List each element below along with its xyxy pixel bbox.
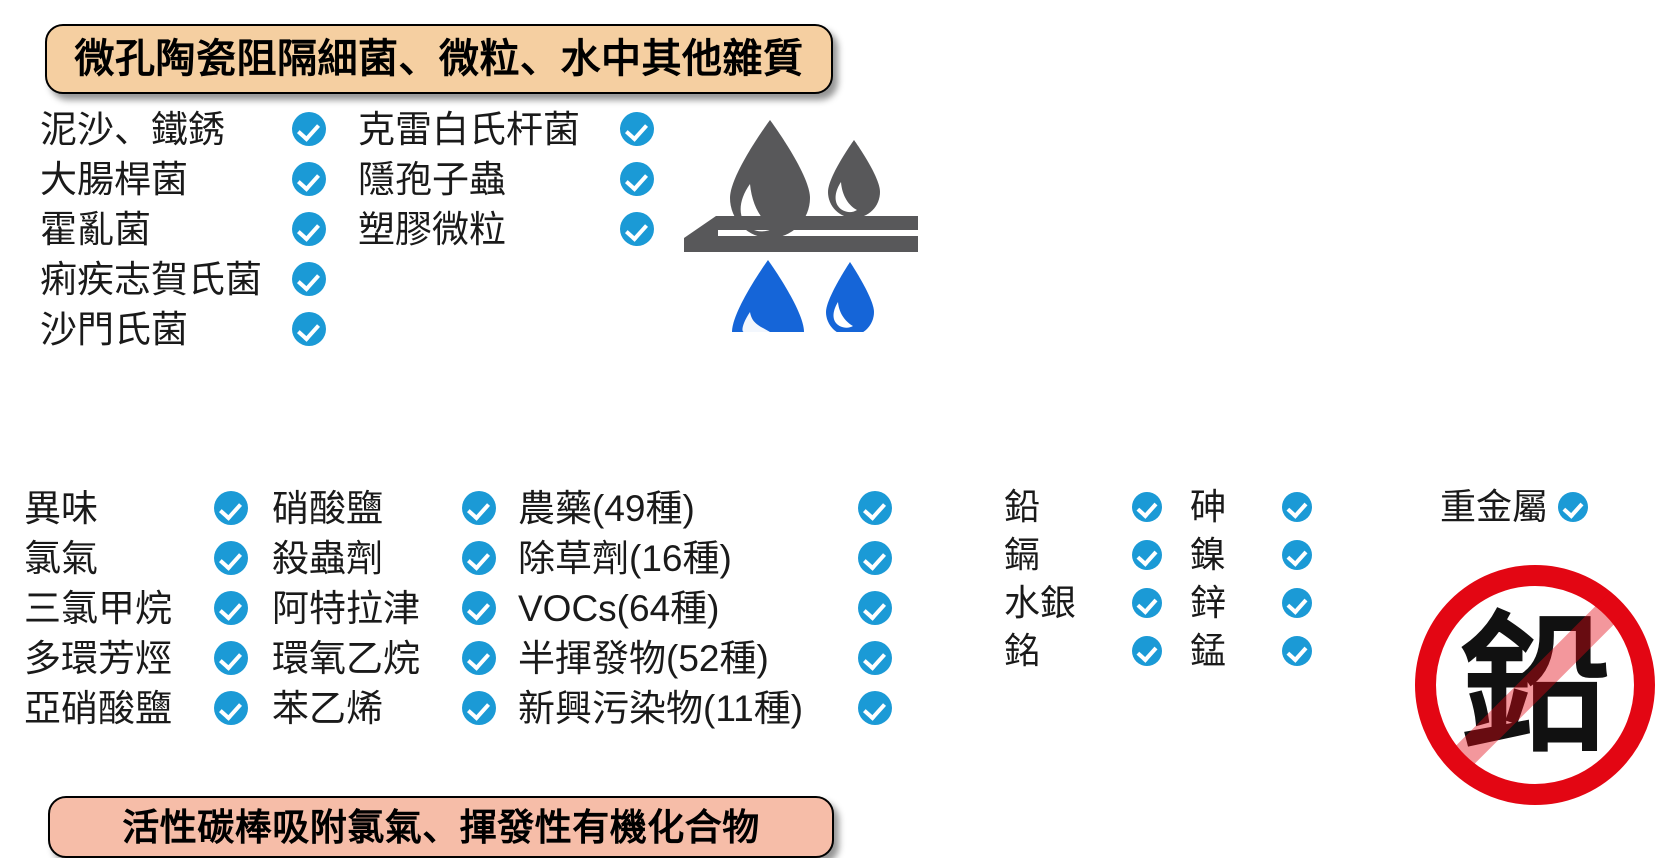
check-icon bbox=[1132, 540, 1162, 570]
list-item-label: 水銀 bbox=[1004, 585, 1132, 621]
list-item: 隱孢子蟲 bbox=[358, 154, 654, 204]
check-icon bbox=[620, 212, 654, 246]
list-item: 錳 bbox=[1190, 627, 1312, 675]
list-item-label: 硝酸鹽 bbox=[272, 490, 462, 527]
list-item-label: 砷 bbox=[1190, 489, 1282, 525]
check-icon bbox=[1282, 492, 1312, 522]
check-icon bbox=[462, 591, 496, 625]
check-icon bbox=[1132, 492, 1162, 522]
check-icon bbox=[858, 691, 892, 725]
list-item: 鎳 bbox=[1190, 531, 1312, 579]
list-item-label: 鉛 bbox=[1004, 489, 1132, 525]
list-item: 銘 bbox=[1004, 627, 1162, 675]
list-item: 殺蟲劑 bbox=[272, 533, 496, 583]
check-icon bbox=[1282, 588, 1312, 618]
list-item: 鋅 bbox=[1190, 579, 1312, 627]
water-filter-icon bbox=[678, 112, 918, 332]
list-item: 水銀 bbox=[1004, 579, 1162, 627]
check-icon bbox=[292, 112, 326, 146]
check-icon bbox=[1558, 492, 1588, 522]
check-icon bbox=[292, 212, 326, 246]
list-item: 泥沙、鐵銹 bbox=[40, 104, 326, 154]
list-item: 塑膠微粒 bbox=[358, 204, 654, 254]
ion-column-1: 鉛 鎘 水銀 銘 bbox=[1004, 483, 1162, 675]
check-icon bbox=[462, 491, 496, 525]
panel-antibacterial: 抗菌配方防止微生物增長 bbox=[960, 0, 1679, 390]
check-icon bbox=[1132, 636, 1162, 666]
check-icon bbox=[462, 691, 496, 725]
check-icon bbox=[1282, 636, 1312, 666]
check-icon bbox=[858, 541, 892, 575]
list-item-label: 鎘 bbox=[1004, 537, 1132, 573]
list-item: 農藥(49種) bbox=[518, 483, 892, 533]
list-item-label: 錳 bbox=[1190, 633, 1282, 669]
list-item: VOCs(64種) bbox=[518, 583, 892, 633]
check-icon bbox=[292, 162, 326, 196]
no-lead-prohibition-icon: 鉛 bbox=[1415, 565, 1655, 805]
check-icon bbox=[214, 691, 248, 725]
list-item-label: 大腸桿菌 bbox=[40, 161, 292, 198]
carbon-column-3: 農藥(49種) 除草劑(16種) VOCs(64種) 半揮發物(52種) 新興污… bbox=[518, 483, 892, 733]
check-icon bbox=[620, 162, 654, 196]
list-item-label: 銘 bbox=[1004, 633, 1132, 669]
list-item-label: 農藥(49種) bbox=[518, 490, 858, 527]
list-item: 痢疾志賀氏菌 bbox=[40, 254, 326, 304]
list-item-label: 塑膠微粒 bbox=[358, 211, 620, 248]
list-item: 亞硝酸鹽 bbox=[24, 683, 248, 733]
carbon-column-1: 異味 氯氣 三氯甲烷 多環芳烴 亞硝酸鹽 bbox=[24, 483, 248, 733]
list-item: 大腸桿菌 bbox=[40, 154, 326, 204]
list-item: 除草劑(16種) bbox=[518, 533, 892, 583]
list-item: 硝酸鹽 bbox=[272, 483, 496, 533]
list-item: 環氧乙烷 bbox=[272, 633, 496, 683]
check-icon bbox=[214, 491, 248, 525]
list-item: 鎘 bbox=[1004, 531, 1162, 579]
list-item: 半揮發物(52種) bbox=[518, 633, 892, 683]
list-item-label: 鎳 bbox=[1190, 537, 1282, 573]
ceramic-column-2: 克雷白氏杆菌 隱孢子蟲 塑膠微粒 bbox=[358, 104, 654, 254]
list-item: 鉛 bbox=[1004, 483, 1162, 531]
list-item-label: 沙門氏菌 bbox=[40, 311, 292, 348]
check-icon bbox=[620, 112, 654, 146]
check-icon bbox=[858, 641, 892, 675]
carbon-column-2: 硝酸鹽 殺蟲劑 阿特拉津 環氧乙烷 苯乙烯 bbox=[272, 483, 496, 733]
list-item: 三氯甲烷 bbox=[24, 583, 248, 633]
list-item: 新興污染物(11種) bbox=[518, 683, 892, 733]
check-icon bbox=[858, 591, 892, 625]
list-item: 沙門氏菌 bbox=[40, 304, 326, 354]
check-icon bbox=[292, 262, 326, 296]
list-item-label: 亞硝酸鹽 bbox=[24, 690, 214, 727]
list-item-label: 克雷白氏杆菌 bbox=[358, 111, 620, 148]
check-icon bbox=[214, 641, 248, 675]
list-item-label: 三氯甲烷 bbox=[24, 590, 214, 627]
panel-carbon-title: 活性碳棒吸附氯氣、揮發性有機化合物 bbox=[122, 809, 760, 846]
list-item-label: 多環芳烴 bbox=[24, 640, 214, 677]
list-item: 重金屬 bbox=[1440, 483, 1588, 531]
list-item: 苯乙烯 bbox=[272, 683, 496, 733]
ceramic-column-1: 泥沙、鐵銹 大腸桿菌 霍亂菌 痢疾志賀氏菌 沙門氏菌 bbox=[40, 104, 326, 354]
list-item-label: 霍亂菌 bbox=[40, 211, 292, 248]
list-item-label: 除草劑(16種) bbox=[518, 540, 858, 577]
list-item-label: 鋅 bbox=[1190, 585, 1282, 621]
list-item-label: 苯乙烯 bbox=[272, 690, 462, 727]
list-item-label: 殺蟲劑 bbox=[272, 540, 462, 577]
check-icon bbox=[214, 591, 248, 625]
list-item-label: 痢疾志賀氏菌 bbox=[40, 261, 292, 298]
check-icon bbox=[1132, 588, 1162, 618]
check-icon bbox=[214, 541, 248, 575]
list-item-label: 氯氣 bbox=[24, 540, 214, 577]
list-item-label: 環氧乙烷 bbox=[272, 640, 462, 677]
list-item-label: 重金屬 bbox=[1440, 489, 1558, 525]
infographic-canvas: 微孔陶瓷阻隔細菌、微粒、水中其他雜質 泥沙、鐵銹 大腸桿菌 霍亂菌 痢疾志賀氏菌… bbox=[0, 0, 1679, 828]
list-item: 異味 bbox=[24, 483, 248, 533]
ion-column-3: 重金屬 bbox=[1440, 483, 1588, 531]
list-item: 克雷白氏杆菌 bbox=[358, 104, 654, 154]
list-item: 多環芳烴 bbox=[24, 633, 248, 683]
panel-ceramic-filtration: 微孔陶瓷阻隔細菌、微粒、水中其他雜質 泥沙、鐵銹 大腸桿菌 霍亂菌 痢疾志賀氏菌… bbox=[0, 0, 960, 390]
list-item-label: 異味 bbox=[24, 490, 214, 527]
list-item: 氯氣 bbox=[24, 533, 248, 583]
panel-carbon-title-pill: 活性碳棒吸附氯氣、揮發性有機化合物 bbox=[48, 796, 834, 858]
list-item: 阿特拉津 bbox=[272, 583, 496, 633]
list-item-label: 阿特拉津 bbox=[272, 590, 462, 627]
panel-ceramic-title-pill: 微孔陶瓷阻隔細菌、微粒、水中其他雜質 bbox=[45, 24, 833, 94]
list-item-label: 半揮發物(52種) bbox=[518, 640, 858, 677]
list-item-label: 隱孢子蟲 bbox=[358, 161, 620, 198]
check-icon bbox=[858, 491, 892, 525]
list-item: 霍亂菌 bbox=[40, 204, 326, 254]
list-item-label: 泥沙、鐵銹 bbox=[40, 111, 292, 148]
list-item-label: VOCs(64種) bbox=[518, 590, 858, 627]
ion-column-2: 砷 鎳 鋅 錳 bbox=[1190, 483, 1312, 675]
check-icon bbox=[1282, 540, 1312, 570]
check-icon bbox=[292, 312, 326, 346]
panel-ceramic-title: 微孔陶瓷阻隔細菌、微粒、水中其他雜質 bbox=[75, 39, 804, 79]
list-item-label: 新興污染物(11種) bbox=[518, 690, 858, 727]
list-item: 砷 bbox=[1190, 483, 1312, 531]
check-icon bbox=[462, 541, 496, 575]
check-icon bbox=[462, 641, 496, 675]
